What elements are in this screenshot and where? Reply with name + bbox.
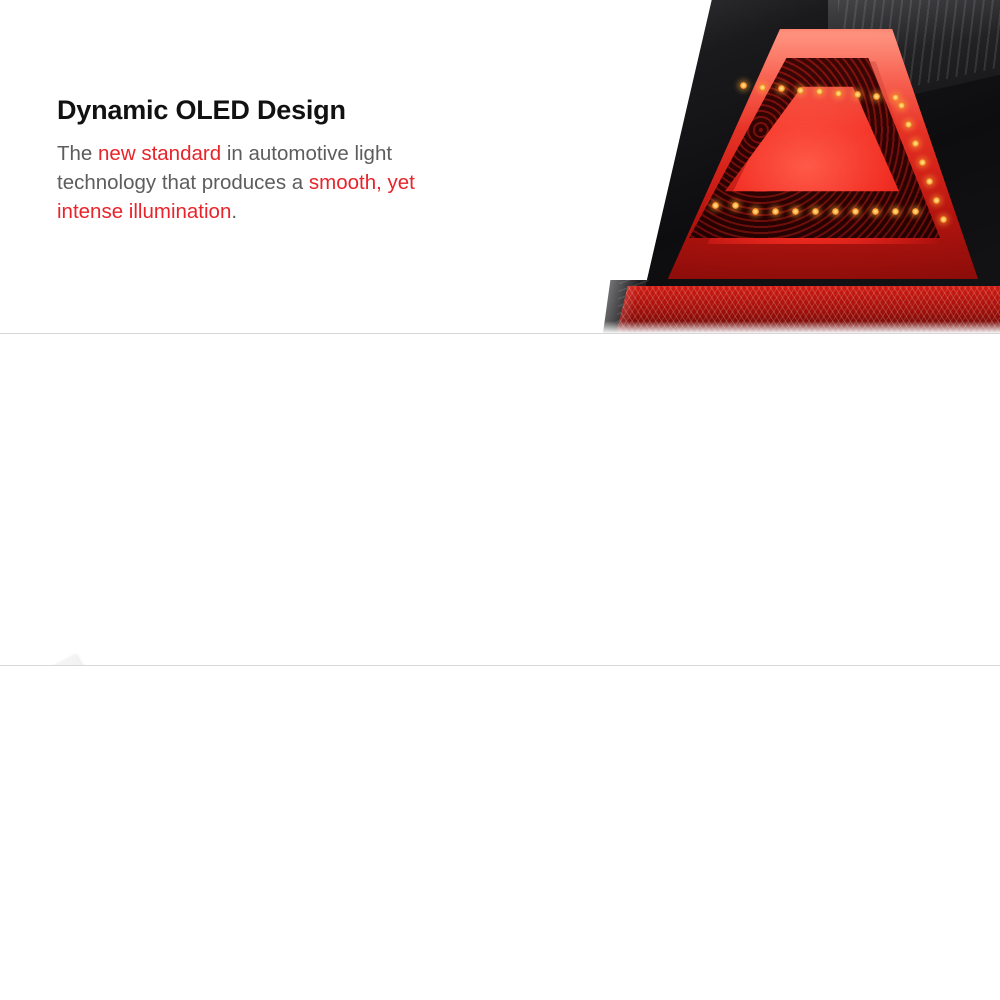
panel-street-legal: RH DOT SAE AIP2RSTA 06 100% Street Legal… [0, 665, 1000, 1000]
panel-plug-and-play: WARNING! CONNECT TO BLACK WIRE Our base … [0, 333, 1000, 665]
photo-left-fade [538, 0, 688, 333]
warning-tag: WARNING! CONNECT TO BLACK WIRE [0, 654, 102, 665]
product-feature-page: Dynamic OLED Design The new standard in … [0, 0, 1000, 1000]
oled-heading: Dynamic OLED Design [57, 96, 457, 126]
oled-copy-block: Dynamic OLED Design The new standard in … [57, 96, 457, 226]
body-text: . [231, 200, 237, 223]
amber-led-dots [684, 58, 940, 238]
oled-body: The new standard in automotive light tec… [57, 139, 457, 226]
photo-bottom-fade [498, 321, 1000, 333]
panel-divider-2 [0, 665, 1000, 666]
illuminated-tail-light-photo [498, 0, 1000, 333]
panel-dynamic-oled-design: Dynamic OLED Design The new standard in … [0, 0, 1000, 333]
panel-divider-1 [0, 333, 1000, 334]
body-text: The [57, 142, 98, 165]
highlight-text: new standard [98, 142, 221, 165]
